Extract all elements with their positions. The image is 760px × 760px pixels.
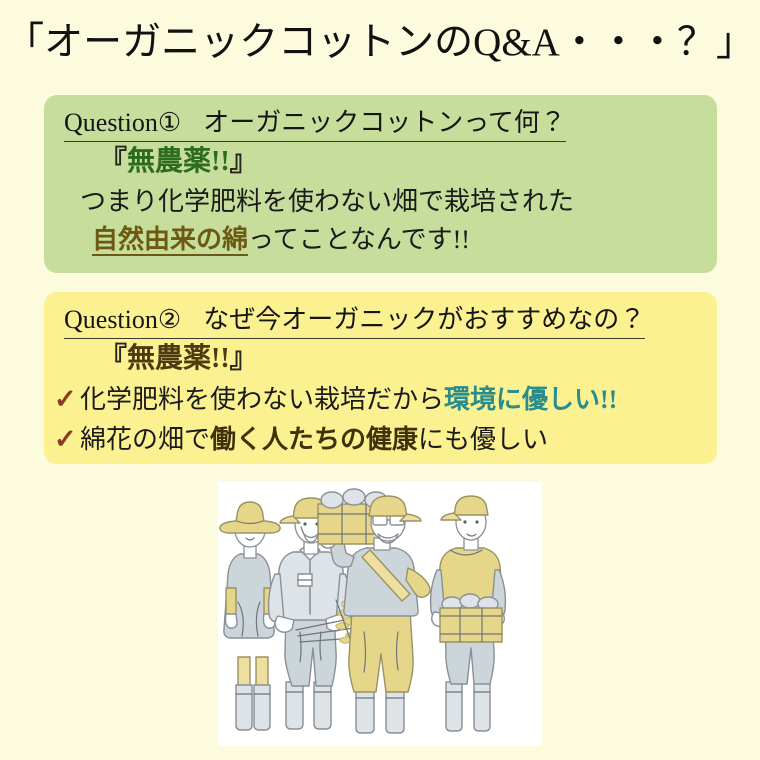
bracket-open-icon: 『 [99, 146, 127, 177]
farmers-illustration: .ol { fill:none; stroke:#8a9096; stroke-… [218, 482, 542, 746]
check-icon: ✓ [54, 422, 80, 456]
bracket-close-icon: 』 [230, 343, 258, 374]
farmers-illustration-svg: .ol { fill:none; stroke:#8a9096; stroke-… [218, 482, 542, 746]
question1-header-text: オーガニックコットンって何？ [203, 108, 566, 137]
list-item: ✓綿花の畑で働く人たちの健康にも優しい [54, 422, 548, 457]
question1-keyword-line: 『無農薬!!』 [99, 145, 258, 179]
question2-keyword: 無農薬!! [127, 343, 230, 374]
list-item-suffix: にも優しい [418, 425, 548, 454]
list-item: ✓化学肥料を使わない栽培だから環境に優しい!! [54, 382, 617, 417]
question1-card: Question①オーガニックコットンって何？ 『無農薬!!』 つまり化学肥料を… [44, 95, 717, 273]
list-item-highlight: 働く人たちの健康 [210, 425, 418, 454]
page-title: 「オーガニックコットンのQ&A・・・？」 [0, 20, 760, 66]
question1-label: Question① [64, 108, 181, 137]
question2-label: Question② [64, 305, 181, 334]
list-item-prefix: 綿花の畑で [80, 425, 210, 454]
question2-header: Question②なぜ今オーガニックがおすすめなの？ [64, 304, 645, 339]
question1-header: Question①オーガニックコットンって何？ [64, 107, 566, 142]
question2-header-text: なぜ今オーガニックがおすすめなの？ [203, 305, 645, 334]
check-icon: ✓ [54, 382, 80, 416]
crate-held [440, 594, 502, 642]
question1-line-b-highlight: 自然由来の綿 [92, 225, 248, 256]
question1-keyword: 無農薬!! [127, 146, 230, 177]
question2-card: Question②なぜ今オーガニックがおすすめなの？ 『無農薬!!』 ✓化学肥料… [44, 292, 717, 464]
question1-line-b-rest: ってことなんです!! [248, 225, 470, 254]
question2-keyword-line: 『無農薬!!』 [99, 342, 258, 376]
list-item-highlight: 環境に優しい!! [444, 385, 617, 414]
bracket-open-icon: 『 [99, 343, 127, 374]
list-item-prefix: 化学肥料を使わない栽培だから [80, 385, 444, 414]
page-root: 「オーガニックコットンのQ&A・・・？」 Question①オーガニックコットン… [0, 0, 760, 760]
bracket-close-icon: 』 [230, 146, 258, 177]
question1-line-b: 自然由来の綿ってことなんです!! [92, 223, 470, 256]
question1-line-a: つまり化学肥料を使わない畑で栽培された [80, 185, 574, 218]
